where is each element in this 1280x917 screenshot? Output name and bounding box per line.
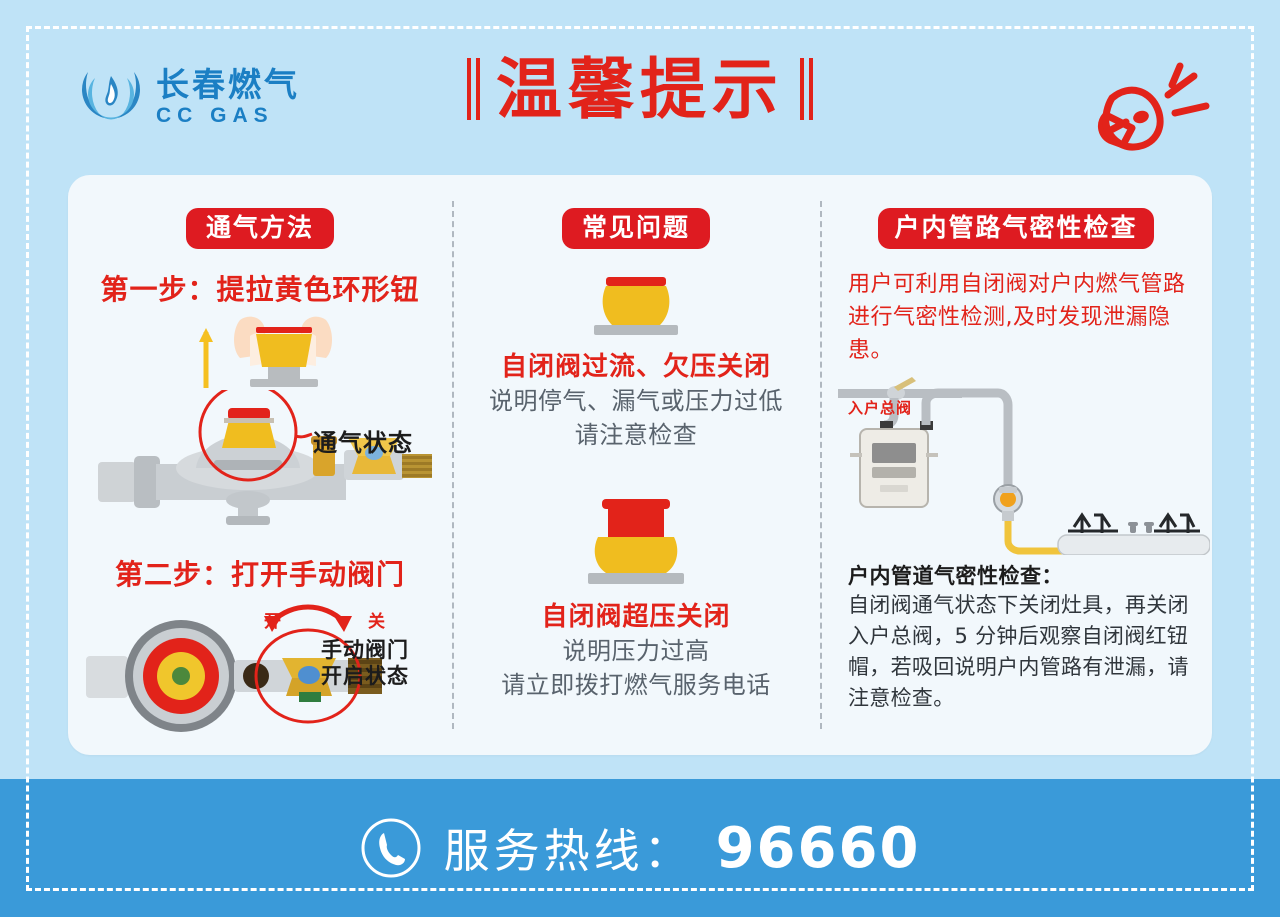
column-gas-supply-method: 通气方法 第一步：提拉黄色环形钮	[68, 175, 452, 755]
airtightness-sub-heading: 户内管道气密性检查：	[848, 560, 1193, 590]
problem-2-text: 自闭阀超压关闭 说明压力过高 请立即拨打燃气服务电话	[452, 600, 820, 702]
content-card: 通气方法 第一步：提拉黄色环形钮	[68, 175, 1212, 755]
inlet-main-valve-label: 入户总阀	[848, 397, 912, 418]
col3-badge-wrap: 户内管路气密性检查	[820, 208, 1212, 249]
badge-gas-supply-method: 通气方法	[186, 208, 334, 249]
problem-1-line-2: 请注意检查	[452, 419, 820, 453]
hotline-number: 96660	[716, 816, 921, 881]
column-common-problems: 常见问题 自闭阀过流、欠压关闭 说明停气、漏气或压力过低 请注意检查	[452, 175, 820, 755]
problem-1-text: 自闭阀过流、欠压关闭 说明停气、漏气或压力过低 请注意检查	[452, 350, 820, 452]
manual-valve-state-label: 手动阀门开启状态	[321, 637, 451, 690]
column-airtightness-check: 户内管路气密性检查 用户可利用自闭阀对户内燃气管路进行气密性检测,及时发现泄漏隐…	[820, 175, 1212, 755]
gas-on-state-label: 通气状态	[313, 423, 413, 458]
poster-root: 长春燃气 CC GAS 温馨提示	[0, 0, 1280, 917]
hotline-label: 服务热线：	[444, 815, 694, 881]
step-1-title: 第一步：提拉黄色环形钮	[68, 268, 452, 308]
step-2-title: 第二步：打开手动阀门	[68, 553, 452, 593]
col2-badge-wrap: 常见问题	[452, 208, 820, 249]
megaphone-icon	[1068, 58, 1218, 168]
col1-badge-wrap: 通气方法	[68, 208, 452, 249]
footer-hotline-bar: 服务热线： 96660	[0, 779, 1280, 917]
badge-common-problems: 常见问题	[562, 208, 710, 249]
title-bar-right-icon	[800, 58, 813, 120]
page-title-text: 温馨提示	[496, 56, 784, 122]
problem-2-line-1: 说明压力过高	[452, 635, 820, 669]
valve-close-label: 关	[368, 607, 385, 632]
title-bar-left-icon	[467, 58, 480, 120]
problem-1-headline: 自闭阀过流、欠压关闭	[452, 350, 820, 385]
valve-closed-low-pressure-icon	[586, 273, 686, 341]
valve-popped-overpressure-icon	[582, 493, 690, 588]
airtightness-body-text: 自闭阀通气状态下关闭灶具，再关闭入户总阀，5 分钟后观察自闭阀红钮帽，若吸回说明…	[848, 590, 1196, 714]
problem-2-line-2: 请立即拨打燃气服务电话	[452, 669, 820, 703]
gas-regulator-icon	[98, 390, 438, 535]
problem-1-line-1: 说明停气、漏气或压力过低	[452, 385, 820, 419]
airtightness-intro-text: 用户可利用自闭阀对户内燃气管路进行气密性检测,及时发现泄漏隐患。	[848, 268, 1188, 367]
phone-in-circle-icon	[360, 817, 422, 879]
problem-2-headline: 自闭阀超压关闭	[452, 600, 820, 635]
badge-airtightness-check: 户内管路气密性检查	[878, 208, 1153, 249]
valve-open-label: 开	[264, 607, 281, 632]
poster-header: 长春燃气 CC GAS 温馨提示	[0, 0, 1280, 175]
